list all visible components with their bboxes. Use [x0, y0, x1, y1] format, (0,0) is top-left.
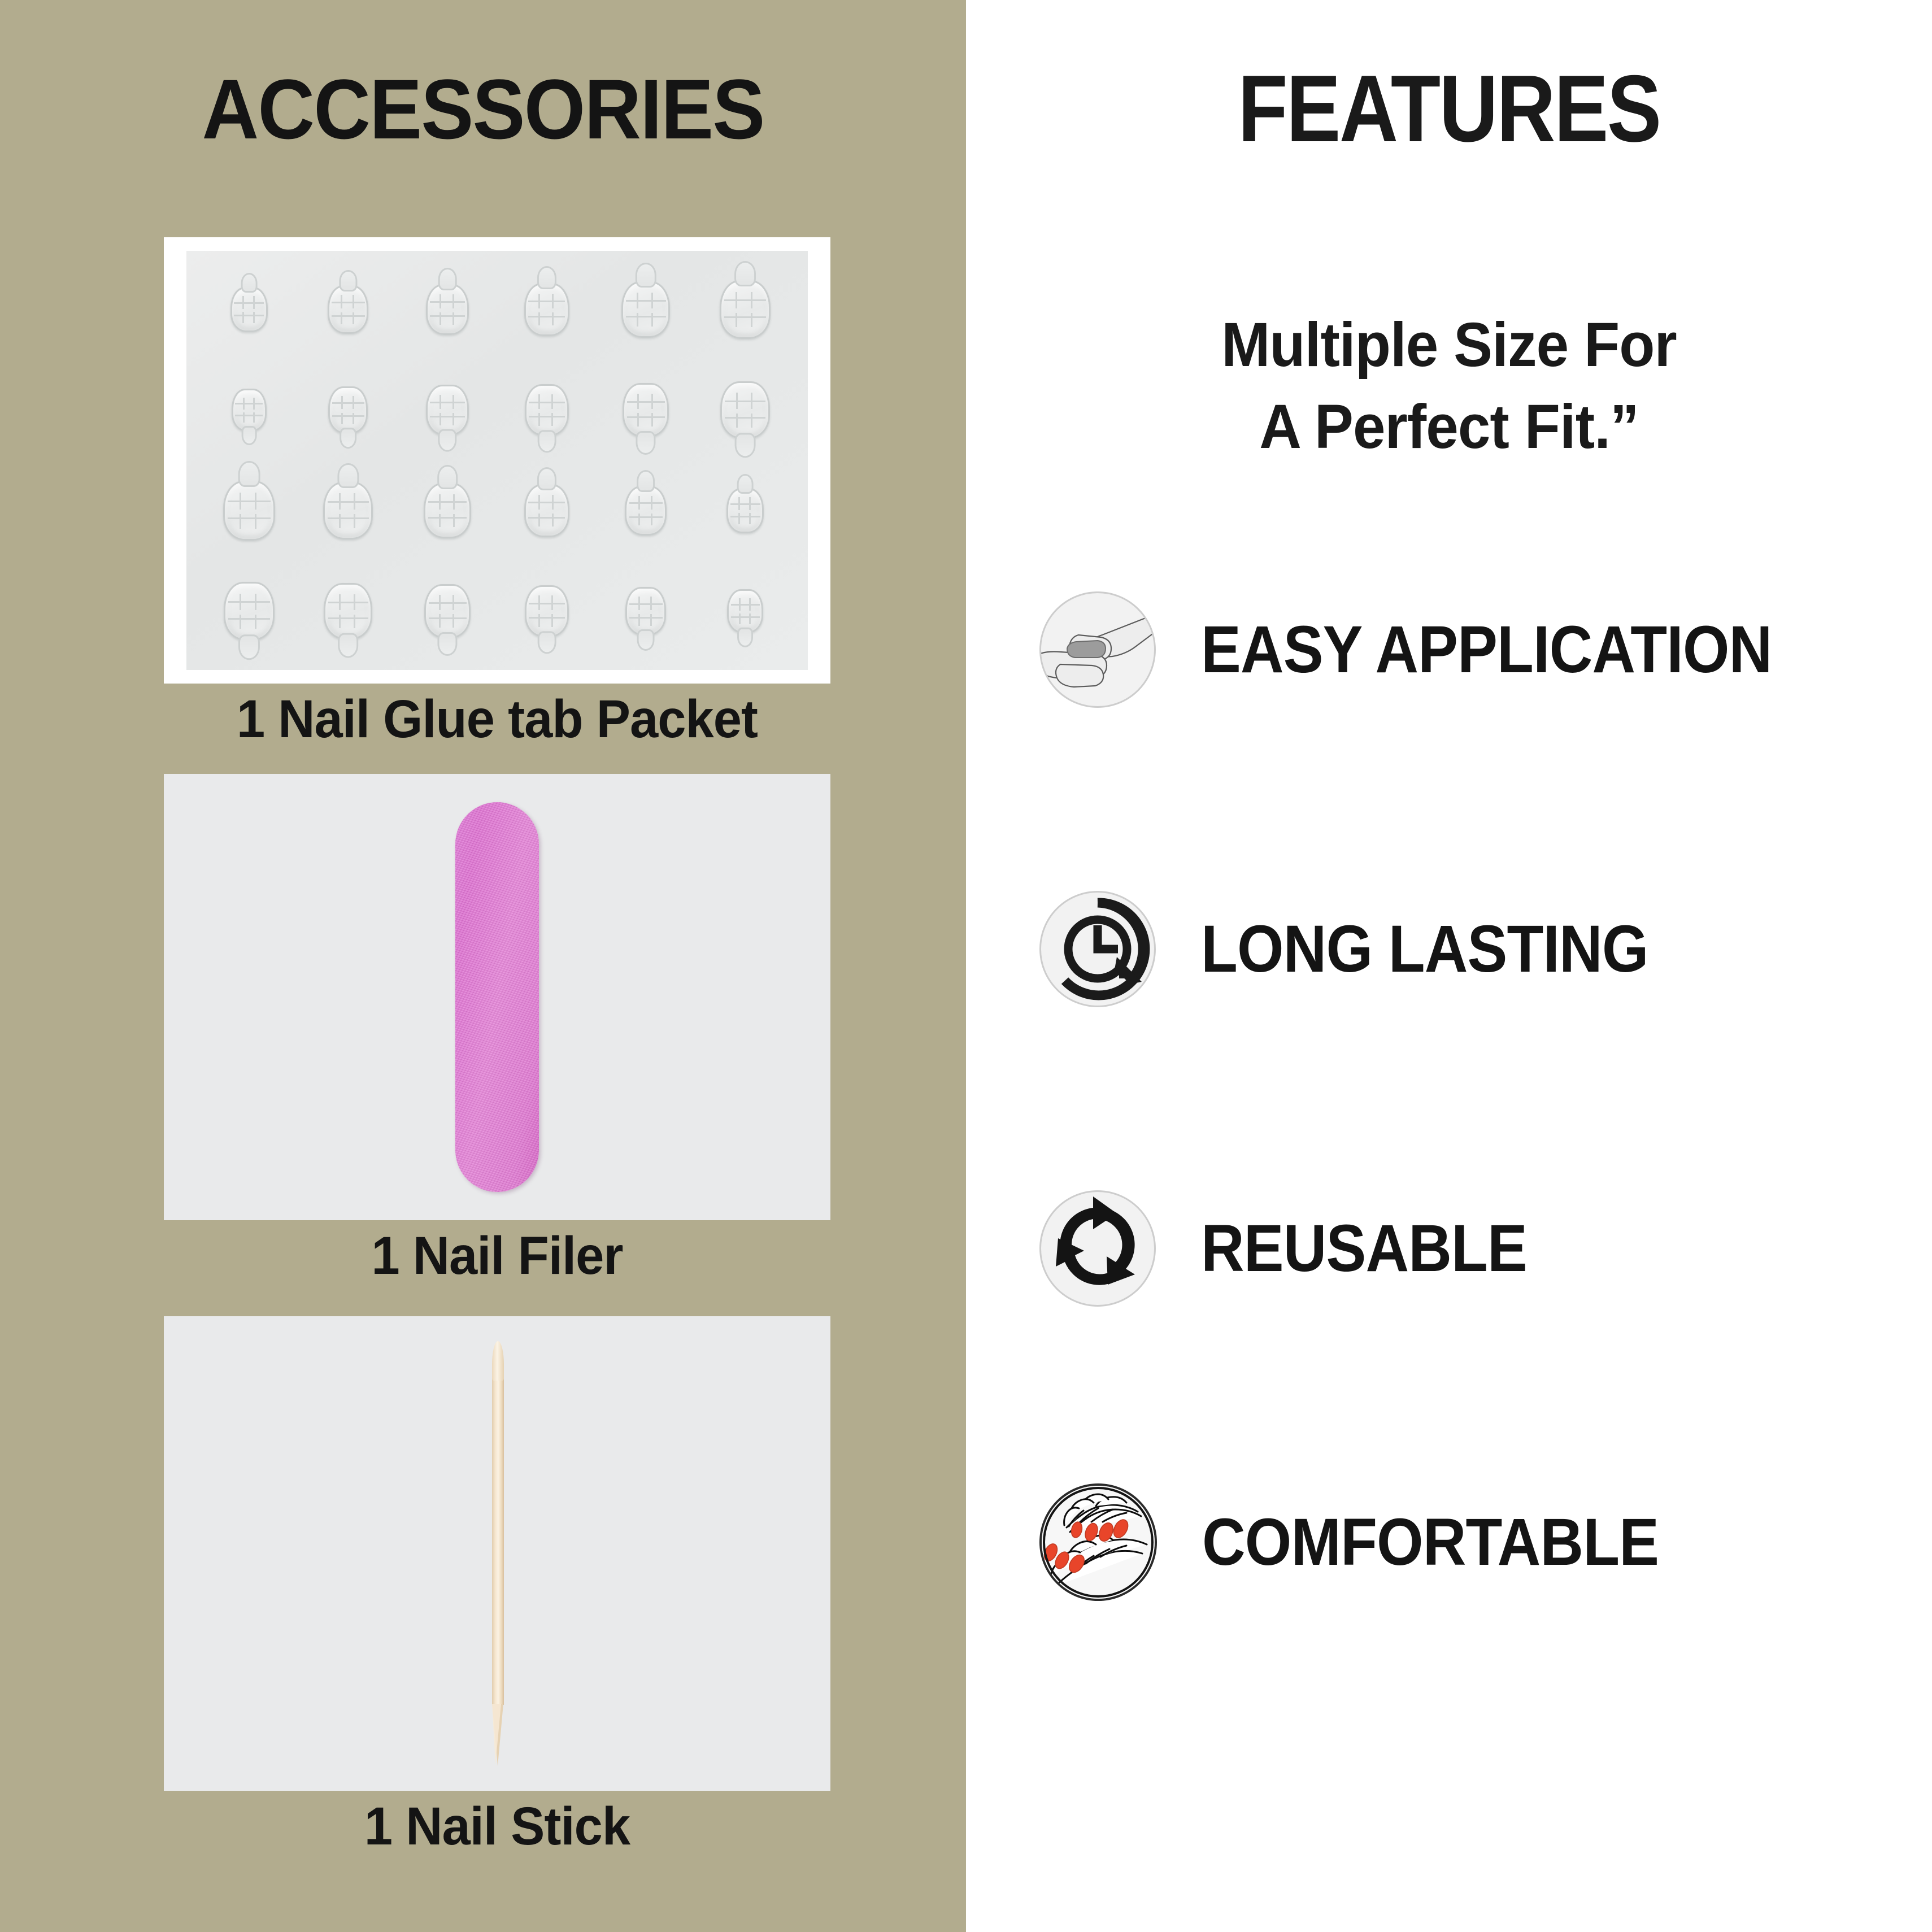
- glue-tab-emboss-line: [736, 414, 738, 428]
- glue-tab-tail: [340, 428, 356, 449]
- glue-tab-emboss-line: [235, 415, 263, 416]
- glue-tab: [697, 563, 793, 660]
- glue-tab-emboss-line: [730, 516, 760, 517]
- glue-tab: [598, 462, 694, 559]
- manicured-hands-icon: [1039, 1483, 1157, 1601]
- glue-tab-emboss-line: [339, 615, 341, 628]
- glue-tab-emboss-line: [430, 315, 465, 317]
- glue-tab: [201, 563, 297, 660]
- glue-tab-emboss-line: [637, 413, 639, 426]
- glue-tab-tail: [637, 629, 655, 651]
- glue-tab-tail: [438, 632, 458, 656]
- glue-tab-emboss-line: [538, 614, 540, 626]
- glue-tab-emboss-line: [429, 602, 467, 604]
- glue-tab-shape: [720, 381, 770, 439]
- glue-tab-emboss-line: [629, 617, 662, 619]
- glue-tab-shape: [623, 383, 669, 437]
- glue-tab-emboss-line: [328, 501, 368, 503]
- glue-tab-shape: [223, 481, 275, 541]
- glue-tab: [301, 261, 397, 358]
- glue-tab-emboss-line: [228, 601, 270, 603]
- glue-tab-shape: [323, 482, 373, 539]
- glue-tab-shape: [720, 280, 771, 339]
- glue-tab-tail: [637, 470, 655, 492]
- features-tagline: Multiple Size For A Perfect Fit.”: [995, 304, 1903, 468]
- glue-tab-emboss-line: [332, 402, 364, 404]
- glue-tab-emboss-line: [332, 315, 364, 317]
- glue-tab-emboss-line: [528, 316, 565, 317]
- manicured-hands-glyph: [1042, 1486, 1155, 1599]
- glue-tab-emboss-line: [528, 301, 565, 302]
- accessory-caption-nail-stick: 1 Nail Stick: [181, 1799, 814, 1855]
- glue-tab-emboss-line: [731, 616, 760, 618]
- glue-tab-emboss-line: [439, 514, 441, 528]
- glue-tab-tail: [340, 270, 357, 291]
- glue-tab: [499, 462, 595, 559]
- glue-tab-emboss-line: [339, 514, 341, 528]
- glue-tab-tail: [438, 429, 457, 452]
- glue-tab-tail: [735, 433, 756, 458]
- glue-tab: [499, 261, 595, 358]
- accessories-panel: ACCESSORIES 1 Nail Glue tab Packet 1 Nai…: [0, 0, 966, 1932]
- glue-tab-emboss-line: [651, 313, 653, 327]
- glue-tab-emboss-line: [452, 614, 454, 627]
- glue-tab-emboss-line: [328, 617, 368, 619]
- glue-tab-emboss-line: [749, 513, 751, 524]
- glue-tab: [697, 261, 793, 358]
- glue-tab: [697, 462, 793, 559]
- feature-label-long-lasting: LONG LASTING: [1201, 916, 1648, 982]
- glue-tab-emboss-line: [235, 403, 263, 404]
- glue-tab-emboss-line: [234, 315, 264, 316]
- accessory-item-glue-tabs: 1 Nail Glue tab Packet: [164, 237, 830, 748]
- glue-tab-tail: [734, 261, 756, 286]
- glue-tab-emboss-line: [453, 514, 455, 528]
- glue-tab-emboss-line: [638, 614, 640, 626]
- glue-tab-emboss-line: [651, 413, 653, 426]
- tagline-line-1: Multiple Size For: [995, 304, 1903, 386]
- glue-tab-shape: [328, 285, 368, 334]
- features-panel: FEATURES Multiple Size For A Perfect Fit…: [966, 0, 1932, 1932]
- glue-tab-emboss-line: [749, 613, 751, 624]
- glue-tab-shape: [621, 281, 670, 338]
- glue-tab-tail: [537, 266, 556, 289]
- glue-tab-emboss-line: [730, 503, 760, 505]
- glue-tab-shape: [524, 484, 569, 537]
- accessory-caption-glue-tabs: 1 Nail Glue tab Packet: [181, 691, 814, 748]
- glue-tab-shape: [232, 389, 267, 432]
- glue-tab-emboss-line: [629, 502, 663, 504]
- glue-tab-emboss-line: [627, 416, 665, 418]
- glue-tab-emboss-line: [228, 517, 271, 519]
- glue-tab-shape: [524, 283, 569, 336]
- glue-tab-emboss-line: [538, 312, 540, 325]
- accessory-item-nail-filer: 1 Nail Filer: [164, 774, 830, 1285]
- finger-pressing-nail-icon: [1039, 591, 1156, 708]
- glue-tab: [598, 261, 694, 358]
- glue-tab-emboss-line: [538, 514, 540, 526]
- glue-tab-shape: [625, 486, 667, 536]
- glue-tab-emboss-line: [731, 604, 760, 606]
- glue-tab: [499, 362, 595, 459]
- clock-arrow-icon: [1039, 891, 1156, 1007]
- glue-tab-shape: [525, 585, 569, 637]
- glue-tab-sheet: [186, 251, 808, 670]
- glue-tab-shape: [424, 483, 471, 538]
- glue-tab: [598, 362, 694, 459]
- glue-tab-emboss-line: [552, 514, 554, 526]
- glue-tab-emboss-line: [430, 402, 465, 403]
- glue-tab-emboss-line: [440, 413, 441, 425]
- glue-tab-shape: [224, 582, 275, 641]
- glue-tab-emboss-line: [440, 312, 441, 325]
- glue-tab-emboss-line: [328, 602, 368, 603]
- glue-tab-emboss-line: [724, 316, 766, 318]
- glue-tab-emboss-line: [528, 517, 565, 519]
- glue-tab-tail: [537, 631, 556, 654]
- glue-tab-emboss-line: [353, 312, 354, 324]
- glue-tab-emboss-line: [228, 618, 270, 620]
- glue-tab-emboss-line: [627, 401, 665, 403]
- glue-tab-emboss-line: [538, 413, 540, 425]
- glue-tab-emboss-line: [739, 613, 741, 624]
- glue-tab-tail: [737, 628, 753, 647]
- glue-tab-emboss-line: [341, 413, 343, 424]
- glue-tab-emboss-line: [328, 517, 368, 519]
- glue-tab: [499, 563, 595, 660]
- glue-tab-emboss-line: [638, 514, 640, 525]
- glue-tab: [301, 362, 397, 459]
- glue-tab-shape: [324, 583, 372, 639]
- glue-tab-emboss-line: [650, 614, 652, 626]
- glue-tab-emboss-line: [255, 615, 256, 629]
- glue-tab-tail: [238, 634, 260, 660]
- glue-tab-shape: [726, 488, 764, 533]
- glue-tab: [399, 261, 495, 358]
- glue-tab-emboss-line: [751, 414, 752, 428]
- glue-tab-emboss-line: [253, 312, 255, 323]
- product-infographic: ACCESSORIES 1 Nail Glue tab Packet 1 Nai…: [0, 0, 1932, 1932]
- accessory-caption-nail-filer: 1 Nail Filer: [181, 1228, 814, 1285]
- glue-tab-tail: [537, 467, 556, 490]
- feature-row-reusable: REUSABLE: [1039, 1192, 1921, 1305]
- glue-tab: [201, 462, 297, 559]
- glue-tab-emboss-line: [243, 412, 245, 423]
- glue-tab: [399, 563, 495, 660]
- glue-tab-emboss-line: [529, 603, 564, 604]
- recycle-arrows-icon: [1039, 1190, 1156, 1307]
- glue-tab-emboss-line: [651, 514, 652, 525]
- feature-row-easy-application: EASY APPLICATION: [1039, 593, 1921, 706]
- glue-tab-emboss-line: [529, 402, 564, 403]
- feature-label-reusable: REUSABLE: [1201, 1215, 1527, 1282]
- nail-stick-photo: [164, 1316, 830, 1791]
- glue-tab-emboss-line: [228, 501, 271, 502]
- clock-arrow-glyph: [1041, 893, 1154, 1006]
- glue-tab: [301, 462, 397, 559]
- glue-tab-emboss-line: [332, 415, 364, 417]
- glue-tab-emboss-line: [429, 617, 467, 619]
- glue-tab-grid: [201, 261, 793, 660]
- glue-tab-emboss-line: [242, 312, 244, 323]
- glue-tab-shape: [525, 384, 569, 436]
- glue-tab-emboss-line: [725, 417, 765, 419]
- glue-tab-emboss-line: [428, 501, 467, 503]
- glue-tab-emboss-line: [528, 502, 565, 503]
- glue-tab-emboss-line: [552, 312, 554, 325]
- glue-tab-emboss-line: [725, 401, 765, 402]
- nail-filer-photo: [164, 774, 830, 1220]
- glue-tab-tail: [338, 463, 359, 488]
- glue-tab-emboss-line: [430, 416, 465, 417]
- glue-tab-emboss-line: [551, 614, 553, 626]
- glue-tab-tail: [238, 461, 260, 487]
- glue-tab: [399, 462, 495, 559]
- glue-tab-tail: [241, 426, 256, 445]
- stick-body: [492, 1343, 504, 1705]
- glue-tab: [598, 563, 694, 660]
- feature-label-easy-application: EASY APPLICATION: [1201, 616, 1772, 683]
- glue-tab-shape: [426, 284, 469, 335]
- glue-tab-tail: [636, 263, 656, 288]
- glue-tab-emboss-line: [354, 514, 355, 528]
- glue-tab-emboss-line: [234, 302, 264, 304]
- glue-tab-shape: [328, 386, 368, 434]
- glue-tab-emboss-line: [629, 603, 662, 605]
- glue-tab-emboss-line: [332, 302, 364, 303]
- glue-tab-shape: [230, 287, 268, 332]
- glue-tab-shape: [424, 584, 471, 638]
- feature-row-comfortable: COMFORTABLE: [1039, 1486, 1921, 1599]
- glue-tab: [201, 261, 297, 358]
- glue-tab-tail: [241, 273, 257, 293]
- glue-tab: [697, 362, 793, 459]
- glue-tab-emboss-line: [354, 615, 355, 628]
- glue-tab-emboss-line: [341, 312, 342, 324]
- glue-tab-emboss-line: [452, 312, 454, 325]
- glue-tab-shape: [727, 589, 763, 633]
- glue-tab-tail: [338, 633, 358, 658]
- glue-tab-emboss-line: [551, 413, 553, 425]
- glue-tab-emboss-line: [452, 413, 454, 425]
- glue-tab: [201, 362, 297, 459]
- glue-tab-tail: [438, 268, 457, 290]
- glue-tab-emboss-line: [629, 516, 663, 518]
- stick-tip-highlight: [492, 1704, 501, 1765]
- glue-tab: [399, 362, 495, 459]
- nail-glue-tab-sheet-photo: [164, 237, 830, 684]
- glue-tab-emboss-line: [430, 301, 465, 303]
- stick-head: [492, 1341, 504, 1381]
- glue-tab-tail: [737, 474, 754, 494]
- pink-nail-file-icon: [455, 802, 539, 1192]
- recycle-arrows-glyph: [1041, 1192, 1154, 1305]
- glue-tab-emboss-line: [736, 313, 737, 327]
- glue-tab-tail: [636, 431, 656, 455]
- glue-tab-emboss-line: [626, 316, 665, 317]
- glue-tab-emboss-line: [738, 513, 740, 524]
- feature-label-comfortable: COMFORTABLE: [1202, 1509, 1659, 1576]
- glue-tab-emboss-line: [751, 313, 752, 327]
- glue-tab-emboss-line: [637, 313, 638, 327]
- glue-tab-shape: [426, 385, 469, 436]
- glue-tab-emboss-line: [240, 615, 241, 629]
- glue-tab-emboss-line: [253, 412, 255, 423]
- glue-tab-emboss-line: [529, 617, 564, 619]
- glue-tab-emboss-line: [428, 517, 467, 519]
- accessory-item-nail-stick: 1 Nail Stick: [164, 1316, 830, 1855]
- glue-tab-tail: [537, 430, 556, 452]
- glue-tab-emboss-line: [529, 416, 564, 417]
- tagline-line-2: A Perfect Fit.”: [995, 386, 1903, 468]
- finger-pressing-nail-glyph: [1041, 593, 1154, 706]
- glue-tab-emboss-line: [353, 413, 354, 424]
- glue-tab-shape: [625, 587, 666, 636]
- feature-row-long-lasting: LONG LASTING: [1039, 893, 1921, 1006]
- glue-tab-emboss-line: [724, 299, 766, 301]
- glue-tab-emboss-line: [255, 514, 256, 529]
- features-title: FEATURES: [1034, 61, 1865, 156]
- glue-tab-emboss-line: [626, 300, 665, 302]
- wooden-cuticle-stick-icon: [488, 1343, 507, 1764]
- glue-tab-emboss-line: [240, 514, 241, 529]
- glue-tab-emboss-line: [439, 614, 441, 627]
- accessories-title: ACCESSORIES: [34, 67, 932, 151]
- glue-tab: [301, 563, 397, 660]
- glue-tab-tail: [437, 465, 458, 489]
